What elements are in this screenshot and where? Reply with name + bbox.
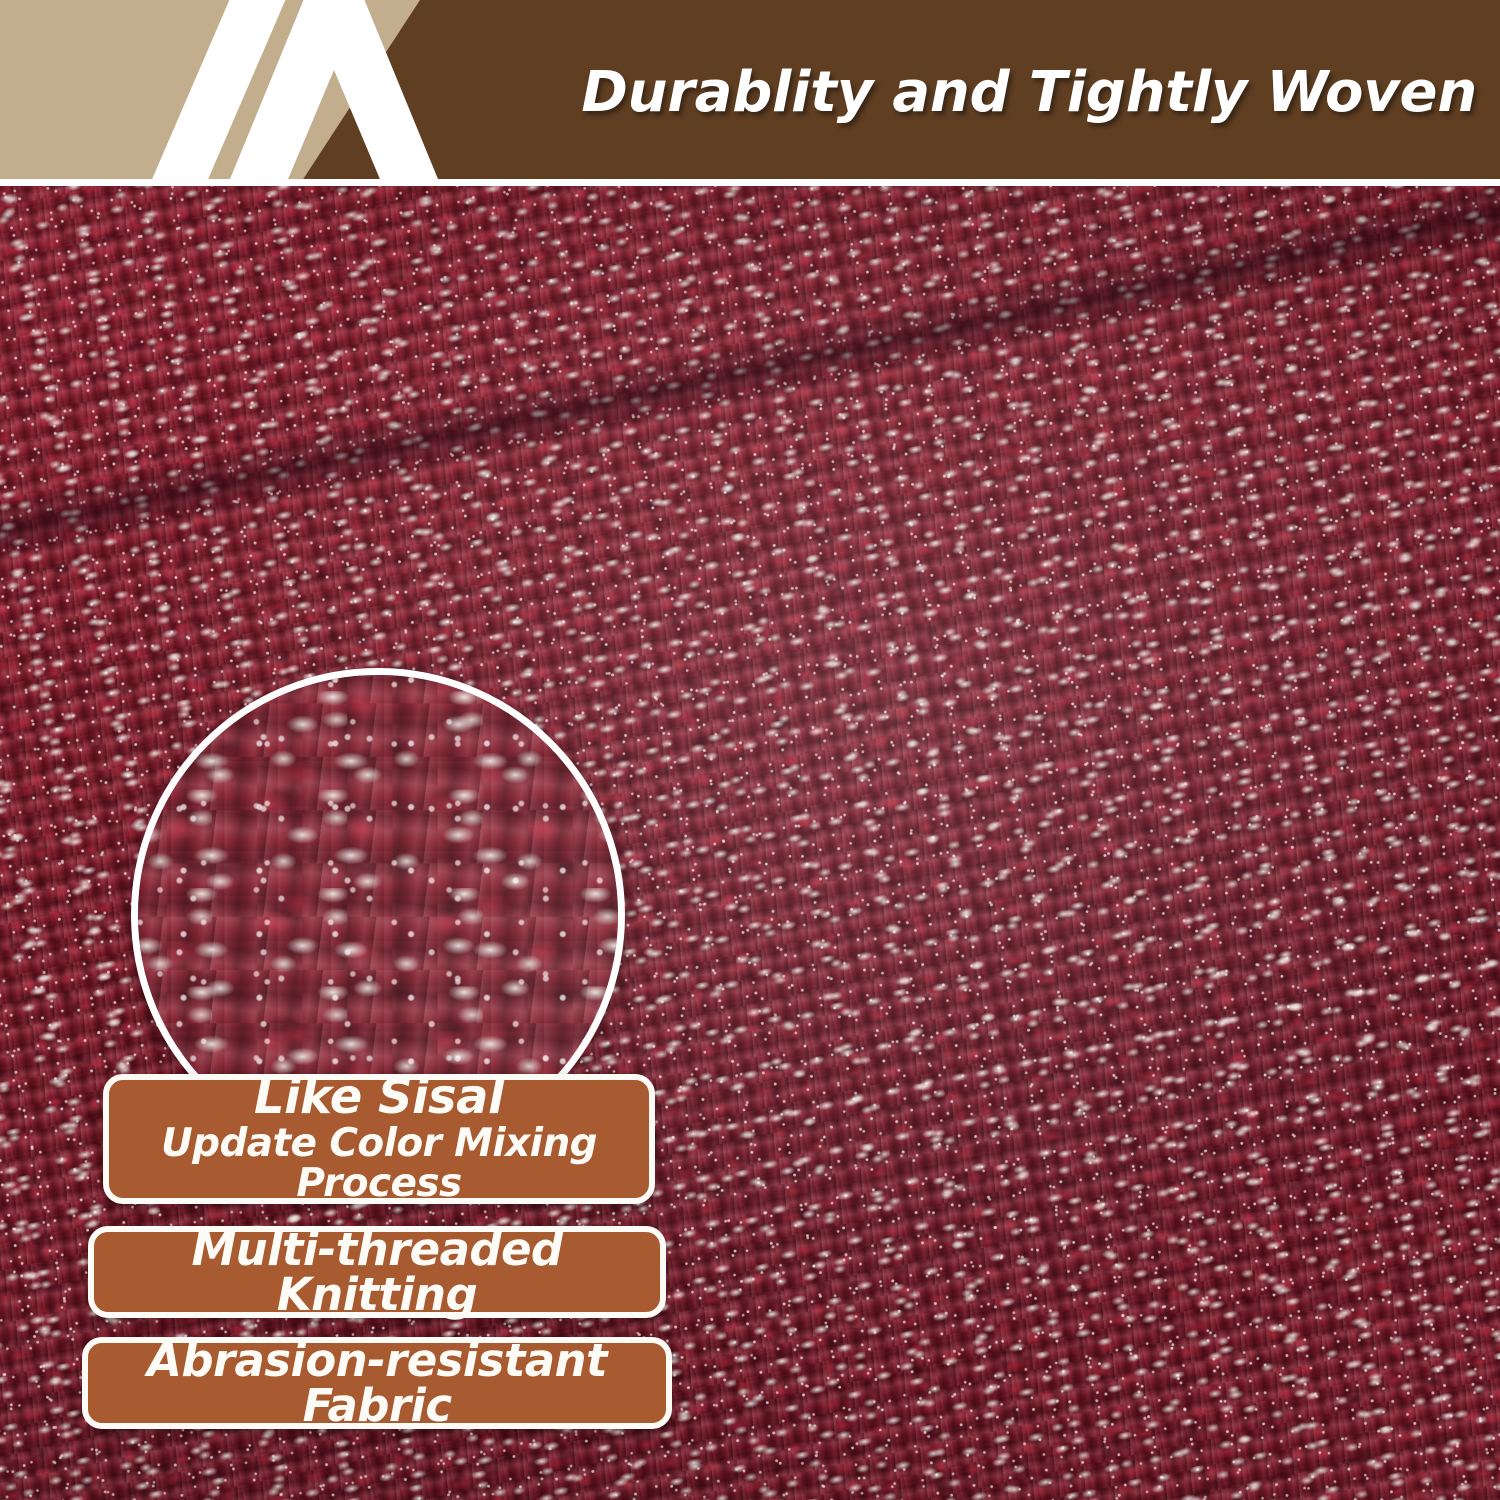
feature-chip-abrasion-resistant-fabric: Abrasion-resistant Fabric	[82, 1337, 672, 1429]
feature-chip-title: Abrasion-resistant Fabric	[88, 1338, 666, 1428]
feature-chip-title: Like Sisal	[254, 1073, 504, 1122]
feature-chip-subtitle: Update Color Mixing Process	[109, 1124, 649, 1206]
product-infographic: Like Sisal Update Color Mixing Process M…	[0, 0, 1500, 1500]
feature-chip-multi-threaded-knitting: Multi-threaded Knitting	[88, 1226, 666, 1318]
feature-chip-like-sisal: Like Sisal Update Color Mixing Process	[103, 1074, 655, 1204]
feature-chip-title: Multi-threaded Knitting	[94, 1227, 660, 1317]
feature-label-group: Like Sisal Update Color Mixing Process M…	[0, 0, 1500, 1500]
